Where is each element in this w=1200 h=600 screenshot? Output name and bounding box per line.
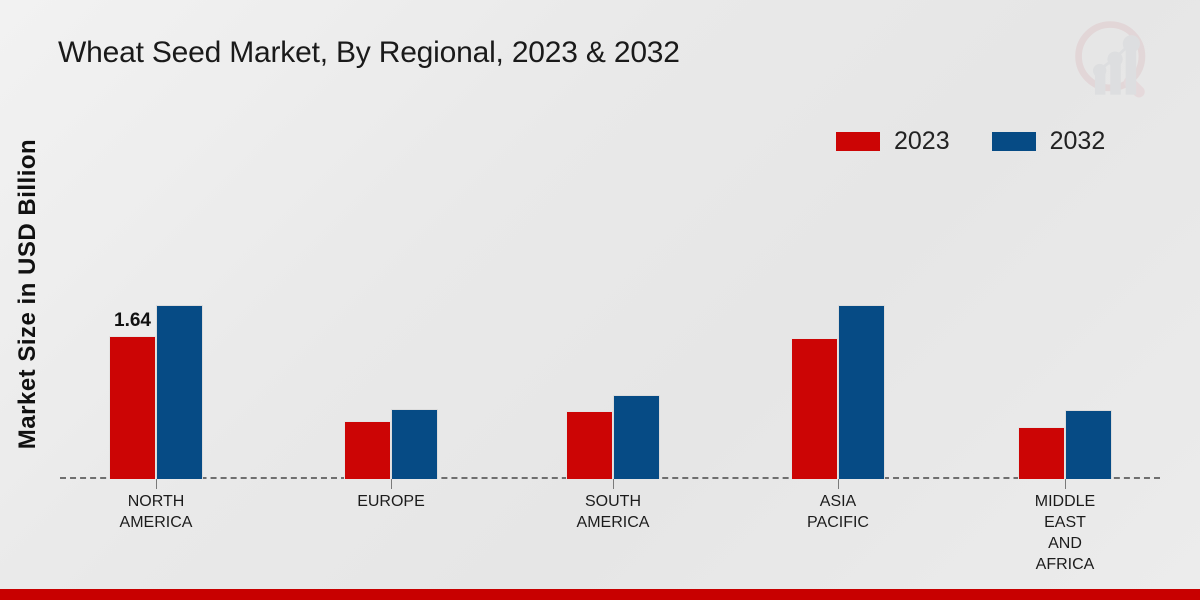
chart-canvas: Wheat Seed Market, By Regional, 2023 & 2…: [0, 0, 1200, 600]
x-axis-tick: [1065, 479, 1066, 489]
x-axis-category-label: EUROPE: [316, 491, 466, 512]
bar-2032[interactable]: [1065, 410, 1112, 479]
bar-2023[interactable]: [344, 421, 391, 479]
bar-2023[interactable]: [1018, 427, 1065, 479]
bar-2032[interactable]: [613, 395, 660, 479]
x-axis-tick: [391, 479, 392, 489]
bottom-accent-stripe: [0, 589, 1200, 600]
y-axis-title: Market Size in USD Billion: [14, 114, 42, 474]
plot-area: 1.64NORTH AMERICAEUROPESOUTH AMERICAASIA…: [60, 110, 1160, 479]
x-axis-category-label: NORTH AMERICA: [81, 491, 231, 533]
bar-group: 1.64NORTH AMERICA: [109, 305, 203, 479]
bar-2032[interactable]: [156, 305, 203, 479]
x-axis-category-label: ASIA PACIFIC: [763, 491, 913, 533]
bar-2023[interactable]: 1.64: [109, 336, 156, 479]
x-axis-tick: [613, 479, 614, 489]
x-axis-tick: [838, 479, 839, 489]
bar-value-label: 1.64: [114, 310, 151, 332]
x-axis-category-label: MIDDLE EAST AND AFRICA: [990, 491, 1140, 575]
x-axis-category-label: SOUTH AMERICA: [538, 491, 688, 533]
bar-2023[interactable]: [791, 338, 838, 479]
bar-group: ASIA PACIFIC: [791, 305, 885, 479]
bar-2023[interactable]: [566, 411, 613, 479]
bar-group: EUROPE: [344, 409, 438, 479]
bar-2032[interactable]: [391, 409, 438, 479]
page-title: Wheat Seed Market, By Regional, 2023 & 2…: [58, 36, 680, 70]
magnifier-bar-chart-logo-icon: [1068, 14, 1164, 110]
bar-group: SOUTH AMERICA: [566, 395, 660, 479]
bar-2032[interactable]: [838, 305, 885, 479]
x-axis-tick: [156, 479, 157, 489]
bar-group: MIDDLE EAST AND AFRICA: [1018, 410, 1112, 479]
